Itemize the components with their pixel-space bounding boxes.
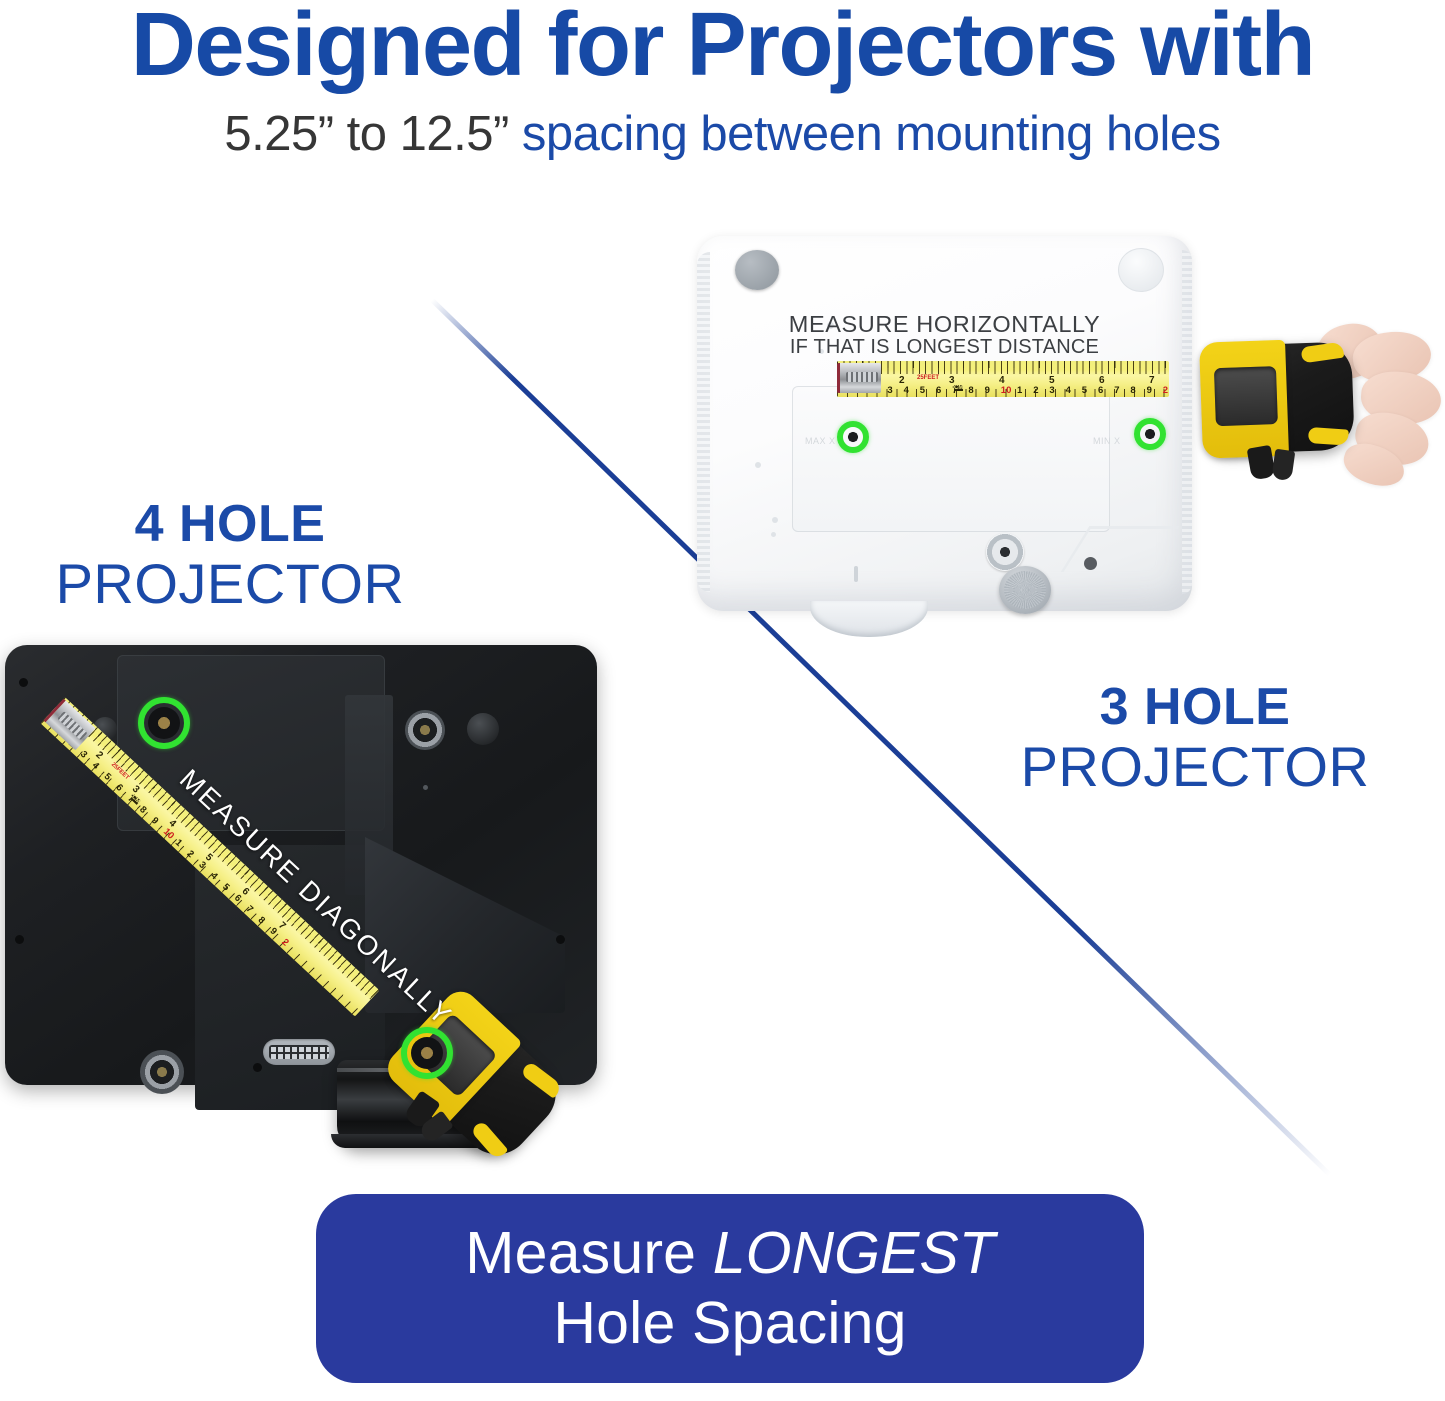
mounting-hole-diagonal-top [148,707,180,739]
tape-metric-number: 2 [1163,385,1168,396]
tape-metric-number: 7 [1114,385,1119,396]
tape-measure-blade-horizontal: 23456725FEET 123456789101234567892CM [837,361,1169,397]
tape-metric-number: 8 [1130,385,1135,396]
page-subtitle: 5.25” to 12.5” spacing between mounting … [0,108,1445,162]
label-four-hole-bold: 4 HOLE [30,495,430,553]
tape-measure-case-diagonal [389,990,570,1168]
tape-measure-hook [837,363,881,393]
label-four-hole-projector: 4 HOLE PROJECTOR [30,495,430,616]
label-three-hole-bold: 3 HOLE [1000,678,1390,736]
badge-line1-prefix: Measure [465,1220,713,1286]
tape-brand-text: 25FEET [917,375,939,381]
tape-measure-blade-diagonal: 23456725FEET 123456789101234567892CM [40,697,379,1017]
white-projector-lens-barrel [810,601,928,637]
white-projector-caption-line1: MEASURE HORIZONTALLY [697,312,1192,337]
tape-measure-case-horizontal [1203,341,1355,454]
tape-cm-marker: CM [954,385,963,391]
tape-metric-number: 6 [936,385,941,396]
tape-case-window [1214,366,1278,426]
subtitle-dimension: 5.25” to 12.5” [224,107,508,161]
white-projector-marking-5 [771,532,776,537]
infographic-canvas: Designed for Projectors with 5.25” to 12… [0,0,1445,1401]
measure-longest-badge: Measure LONGEST Hole Spacing [316,1194,1144,1383]
tape-metric-number: 9 [985,385,990,396]
white-projector-faint-label-right: MIN X [1093,436,1121,446]
white-projector-adjust-knob [999,566,1051,614]
badge-line-1: Measure LONGEST [465,1219,995,1289]
mounting-hole-right [1144,428,1156,440]
tape-metric-number: 3 [887,385,892,396]
white-projector-foot-right [1118,248,1164,292]
tape-metric-number: 5 [1082,385,1087,396]
white-projector-caption: MEASURE HORIZONTALLY IF THAT IS LONGEST … [697,312,1192,358]
white-projector-marking-4 [772,517,778,523]
badge-line-2: Hole Spacing [553,1289,906,1359]
page-title: Designed for Projectors with [0,0,1445,93]
white-projector-center-screw [986,533,1024,571]
white-projector-marking-3 [755,462,761,468]
mounting-hole-diagonal-bottom [411,1037,443,1069]
tape-ticks-major [837,361,1169,368]
mounting-hole-highlight-left [837,421,869,453]
tape-metric-number: 4 [904,385,909,396]
white-projector-foot-left [735,250,779,290]
label-four-hole-thin: PROJECTOR [30,553,430,616]
tape-ticks-major-diagonal [60,697,379,995]
tape-metric-number: 6 [1098,385,1103,396]
badge-line1-emphasis: LONGEST [713,1220,995,1286]
white-projector-photo: MAX X MIN X MEASURE HORIZONTALLY IF THAT… [697,236,1192,611]
mounting-hole-left [847,431,859,443]
tape-metric-number: 2 [1033,385,1038,396]
tape-case-yellow-accent-bottom [1308,427,1349,446]
black-projector-photo: 23456725FEET 123456789101234567892CM [5,645,605,1155]
white-projector-faint-label-left: MAX X [805,436,836,446]
white-projector-dot [1084,557,1097,570]
white-projector-right-vent [1182,250,1192,594]
tape-metric-number: 5 [920,385,925,396]
tape-metric-number: 9 [1147,385,1152,396]
mounting-hole-highlight-right [1134,418,1166,450]
mounting-hole-highlight-diagonal-top [138,697,190,749]
tape-metric-number: 3 [1049,385,1054,396]
label-three-hole-projector: 3 HOLE PROJECTOR [1000,678,1390,799]
subtitle-rest: spacing between mounting holes [509,107,1221,161]
tape-metric-number: 10 [1001,385,1012,396]
white-projector-left-vent [697,252,710,592]
tape-case-strap-2 [1271,449,1295,481]
white-projector-slot [854,566,858,582]
mounting-hole-highlight-diagonal-bottom [401,1027,453,1079]
label-three-hole-thin: PROJECTOR [1000,736,1390,799]
tape-metric-number: 4 [1066,385,1071,396]
white-projector-panel [792,386,1110,532]
tape-metric-number: 1 [1017,385,1022,396]
white-projector-caption-line2: IF THAT IS LONGEST DISTANCE [697,337,1192,358]
tape-metric-number: 8 [968,385,973,396]
